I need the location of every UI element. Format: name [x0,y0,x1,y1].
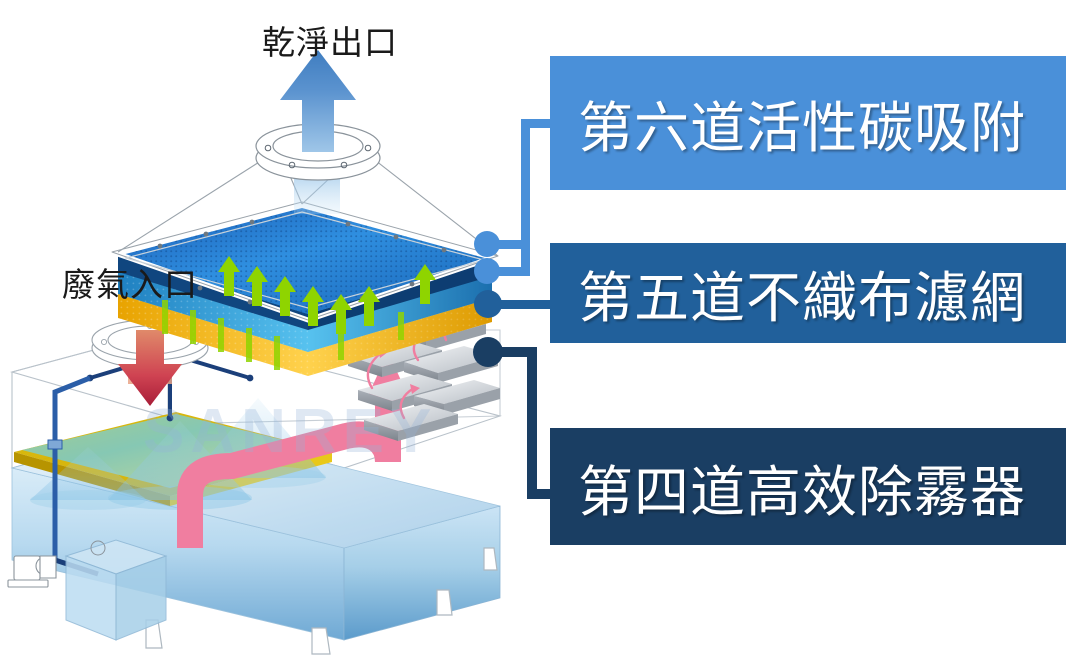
callout-stage-6-label: 第六道活性碳吸附 [578,83,1026,163]
exhaust-inlet-label: 廢氣入口 [62,258,198,306]
leader-line-stage6-vertical [521,119,530,276]
leader-line-stage6-a [495,240,529,249]
connector-dot-stage4[interactable] [473,337,503,367]
callout-stage-4[interactable]: 第四道高效除霧器 [550,428,1066,545]
leader-line-stage6-b [495,267,529,276]
callout-stage-4-label: 第四道高效除霧器 [578,447,1026,527]
circulation-pump [8,556,56,587]
connector-dot-stage6-upper[interactable] [474,231,500,257]
clean-outlet-label: 乾淨出口 [262,16,398,64]
connector-dot-stage6-lower[interactable] [474,258,500,284]
diagram-canvas: SANREY 乾淨出口 廢氣入口 第六道活性碳吸附 第五道不織布濾網 第四道高效… [0,0,1066,664]
leader-line-stage5 [495,300,553,309]
leader-line-stage4-vertical [527,347,537,499]
callout-stage-5-label: 第五道不織布濾網 [578,253,1026,333]
sump-box [66,540,166,640]
connector-dot-stage5[interactable] [474,290,502,318]
callout-stage-6[interactable]: 第六道活性碳吸附 [550,56,1066,190]
callout-stage-5[interactable]: 第五道不織布濾網 [550,243,1066,343]
